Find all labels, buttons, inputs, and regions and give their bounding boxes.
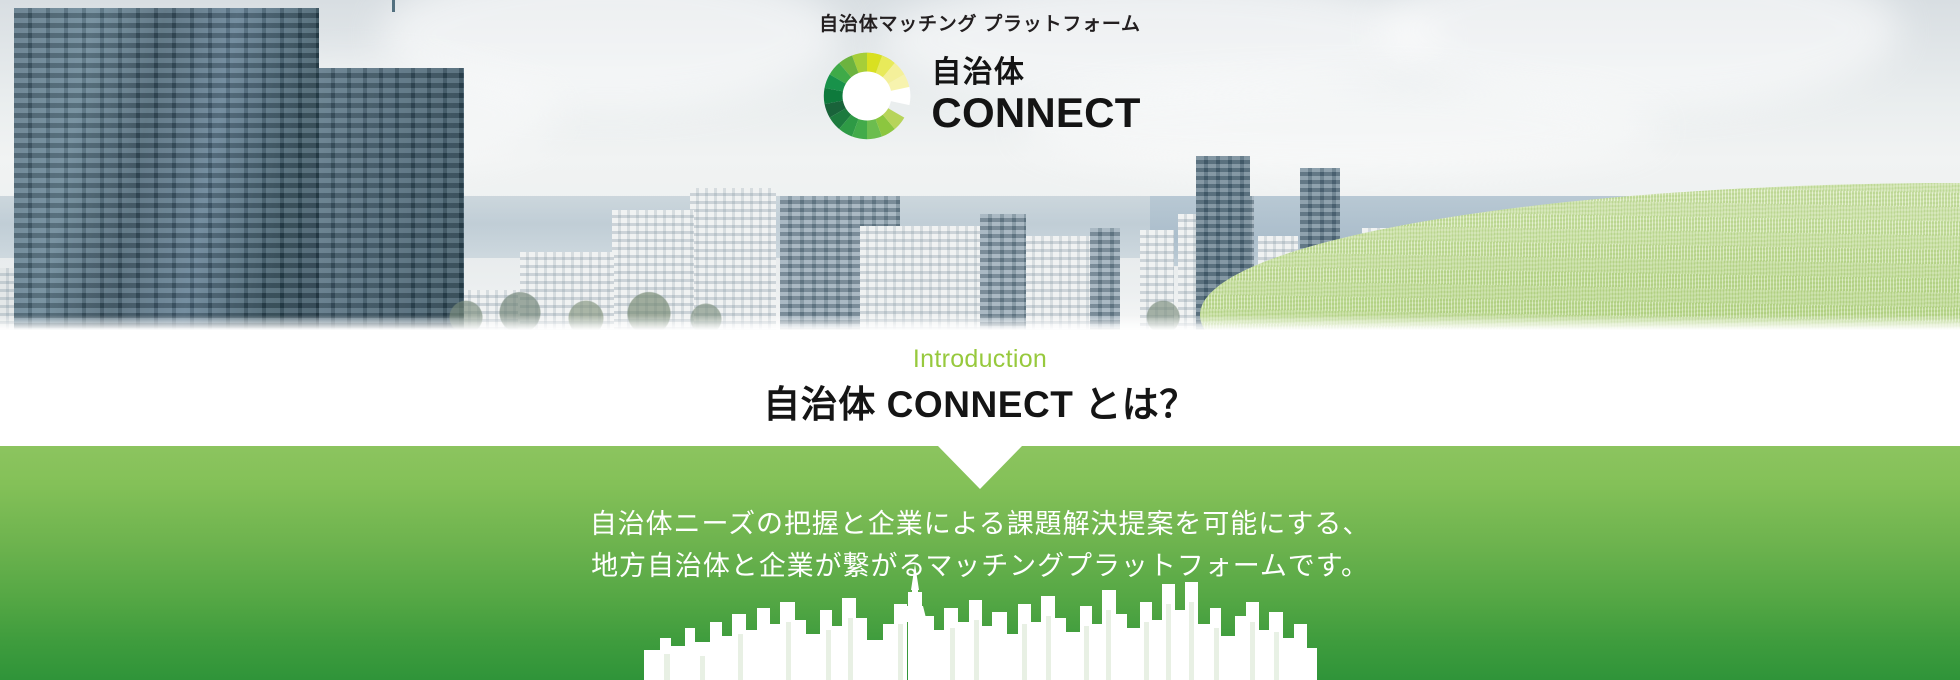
landing-page: 自治体マッチング プラットフォーム: [0, 0, 1960, 680]
brand-wordmark: 自治体 CONNECT: [931, 58, 1140, 134]
brand-logo-lockup[interactable]: 自治体 CONNECT: [819, 48, 1140, 144]
brand-tagline: 自治体マッチング プラットフォーム: [0, 15, 1960, 34]
green-description-section: 自治体ニーズの把握と企業による課題解決提案を可能にする、 地方自治体と企業が繋が…: [0, 446, 1960, 680]
hero-bottom-fade: [0, 315, 1960, 331]
description-line-1: 自治体ニーズの把握と企業による課題解決提案を可能にする、: [0, 504, 1960, 546]
section-eyebrow: Introduction: [0, 347, 1960, 372]
triangle-notch: [938, 446, 1022, 489]
building: [980, 214, 1026, 331]
brand-name-jp: 自治体: [931, 58, 1140, 88]
description-text: 自治体ニーズの把握と企業による課題解決提案を可能にする、 地方自治体と企業が繋が…: [0, 504, 1960, 588]
brand-name-en: CONNECT: [931, 92, 1140, 134]
connect-c-ring-logo-icon: [819, 48, 915, 144]
section-title: 自治体 CONNECT とは？: [0, 386, 1960, 423]
brand-header: 自治体マッチング プラットフォーム: [0, 0, 1960, 149]
introduction-band: Introduction 自治体 CONNECT とは？: [0, 331, 1960, 446]
description-line-2: 地方自治体と企業が繋がるマッチングプラットフォームです。: [0, 546, 1960, 588]
